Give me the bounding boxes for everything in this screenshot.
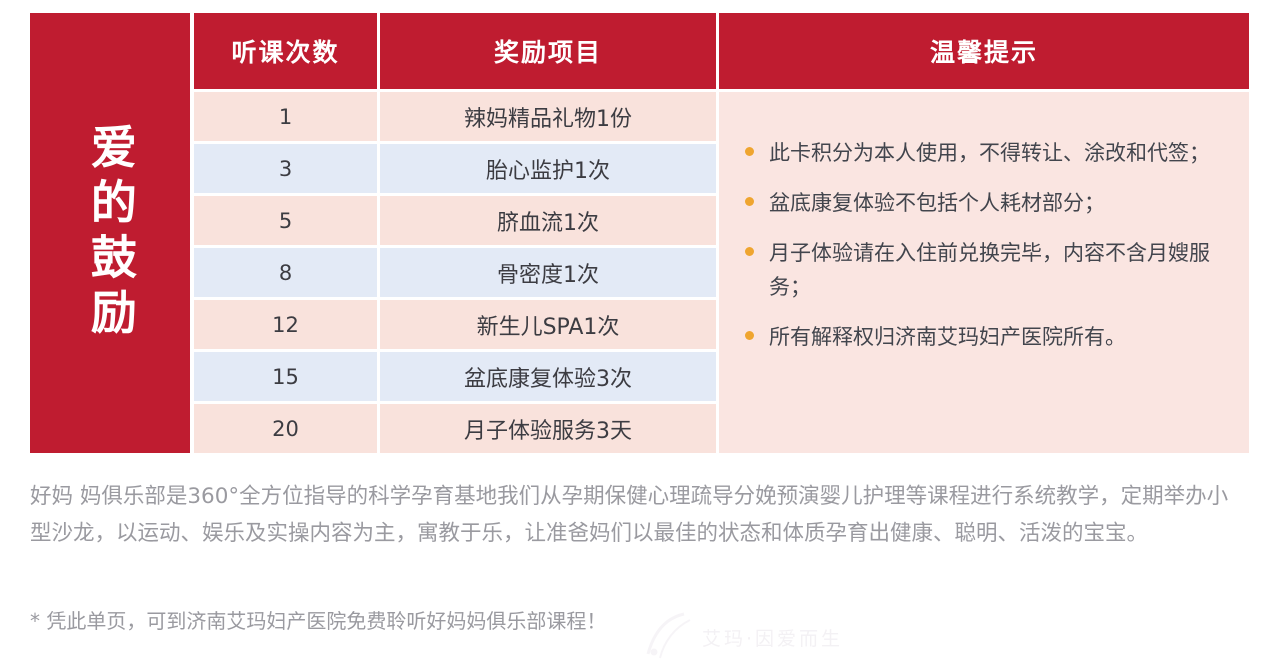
table-row: 20 月子体验服务3天: [194, 404, 716, 453]
list-item: 月子体验请在入住前兑换完毕，内容不含月嫂服务；: [745, 236, 1219, 304]
rewards-card: 爱的鼓励 听课次数 奖励项目 1 辣妈精品礼物1份 3 胎心监护1次 5: [30, 13, 1249, 453]
watermark: 艾玛·因爱而生: [640, 608, 940, 664]
tip-text: 盆底康复体验不包括个人耗材部分；: [769, 186, 1105, 220]
table-body: 1 辣妈精品礼物1份 3 胎心监护1次 5 脐血流1次 8 骨密度1次 12: [194, 89, 716, 453]
rewards-table: 听课次数 奖励项目 1 辣妈精品礼物1份 3 胎心监护1次 5 脐血流1次 8: [194, 13, 716, 453]
cell-item: 脐血流1次: [380, 196, 716, 245]
list-item: 所有解释权归济南艾玛妇产医院所有。: [745, 320, 1219, 354]
tip-text: 所有解释权归济南艾玛妇产医院所有。: [769, 320, 1126, 354]
cell-item: 新生儿SPA1次: [380, 300, 716, 349]
page-title: 爱的鼓励: [85, 123, 135, 343]
cell-item: 胎心监护1次: [380, 144, 716, 193]
brand-logo-icon: [640, 608, 712, 660]
table-row: 3 胎心监护1次: [194, 144, 716, 193]
cell-count: 5: [194, 196, 377, 245]
cell-item: 骨密度1次: [380, 248, 716, 297]
column-header-count: 听课次数: [194, 13, 377, 89]
bullet-icon: [745, 147, 754, 156]
column-header-tips: 温馨提示: [719, 13, 1249, 89]
cell-count: 3: [194, 144, 377, 193]
table-row: 12 新生儿SPA1次: [194, 300, 716, 349]
cell-item: 盆底康复体验3次: [380, 352, 716, 401]
cell-item: 辣妈精品礼物1份: [380, 92, 716, 141]
tip-text: 月子体验请在入住前兑换完毕，内容不含月嫂服务；: [769, 236, 1219, 304]
tip-text: 此卡积分为本人使用，不得转让、涂改和代签；: [769, 136, 1210, 170]
cell-count: 20: [194, 404, 377, 453]
tips-list: 此卡积分为本人使用，不得转让、涂改和代签； 盆底康复体验不包括个人耗材部分； 月…: [719, 92, 1249, 453]
table-row: 8 骨密度1次: [194, 248, 716, 297]
column-header-item: 奖励项目: [380, 13, 716, 89]
cell-count: 1: [194, 92, 377, 141]
table-row: 5 脐血流1次: [194, 196, 716, 245]
bullet-icon: [745, 331, 754, 340]
cell-count: 8: [194, 248, 377, 297]
table-header-row: 听课次数 奖励项目: [194, 13, 716, 89]
cell-count: 12: [194, 300, 377, 349]
list-item: 此卡积分为本人使用，不得转让、涂改和代签；: [745, 136, 1219, 170]
bullet-icon: [745, 197, 754, 206]
watermark-text: 艾玛·因爱而生: [702, 624, 843, 651]
vertical-title-panel: 爱的鼓励: [30, 13, 190, 453]
bullet-icon: [745, 247, 754, 256]
list-item: 盆底康复体验不包括个人耗材部分；: [745, 186, 1219, 220]
footnote-text: * 凭此单页，可到济南艾玛妇产医院免费聆听好妈妈俱乐部课程！: [30, 605, 606, 634]
tips-panel: 温馨提示 此卡积分为本人使用，不得转让、涂改和代签； 盆底康复体验不包括个人耗材…: [719, 13, 1249, 453]
description-paragraph: 好妈 妈俱乐部是360°全方位指导的科学孕育基地我们从孕期保健心理疏导分娩预演婴…: [30, 478, 1248, 553]
table-row: 1 辣妈精品礼物1份: [194, 92, 716, 141]
cell-item: 月子体验服务3天: [380, 404, 716, 453]
cell-count: 15: [194, 352, 377, 401]
table-row: 15 盆底康复体验3次: [194, 352, 716, 401]
poster-page: 爱的鼓励 听课次数 奖励项目 1 辣妈精品礼物1份 3 胎心监护1次 5: [0, 0, 1280, 664]
